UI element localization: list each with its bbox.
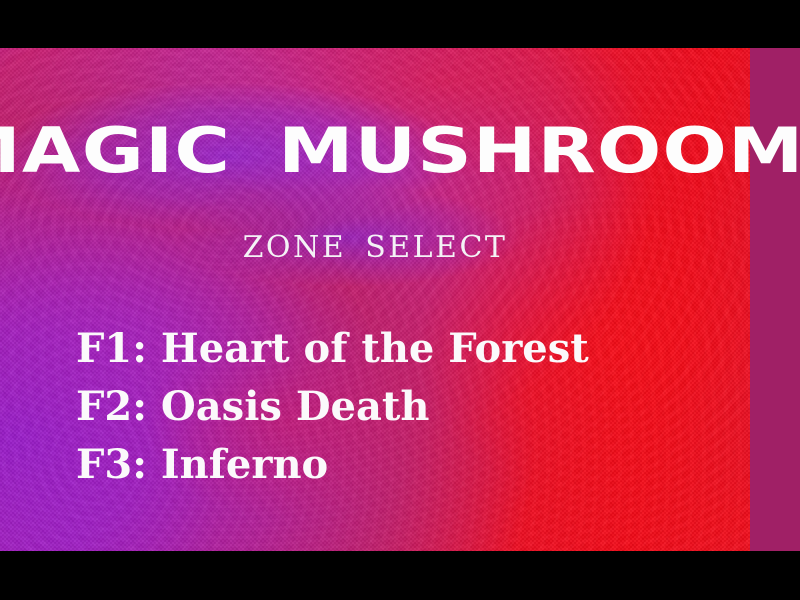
zone-option-f1[interactable]: F1: Heart of the Forest (76, 320, 589, 378)
menu-content: MAGIC MUSHROOM ZONE SELECT F1: Heart of … (0, 48, 750, 551)
zone-option-f3[interactable]: F3: Inferno (76, 436, 589, 494)
zone-select-list: F1: Heart of the Forest F2: Oasis Death … (76, 320, 589, 494)
letterbox-bottom-bar (0, 551, 800, 600)
zone-option-f2[interactable]: F2: Oasis Death (76, 378, 589, 436)
game-title: MAGIC MUSHROOM (0, 120, 800, 182)
zone-select-subtitle: ZONE SELECT (0, 233, 750, 263)
game-screen: MAGIC MUSHROOM ZONE SELECT F1: Heart of … (0, 0, 800, 600)
letterbox-top-bar (0, 0, 800, 48)
